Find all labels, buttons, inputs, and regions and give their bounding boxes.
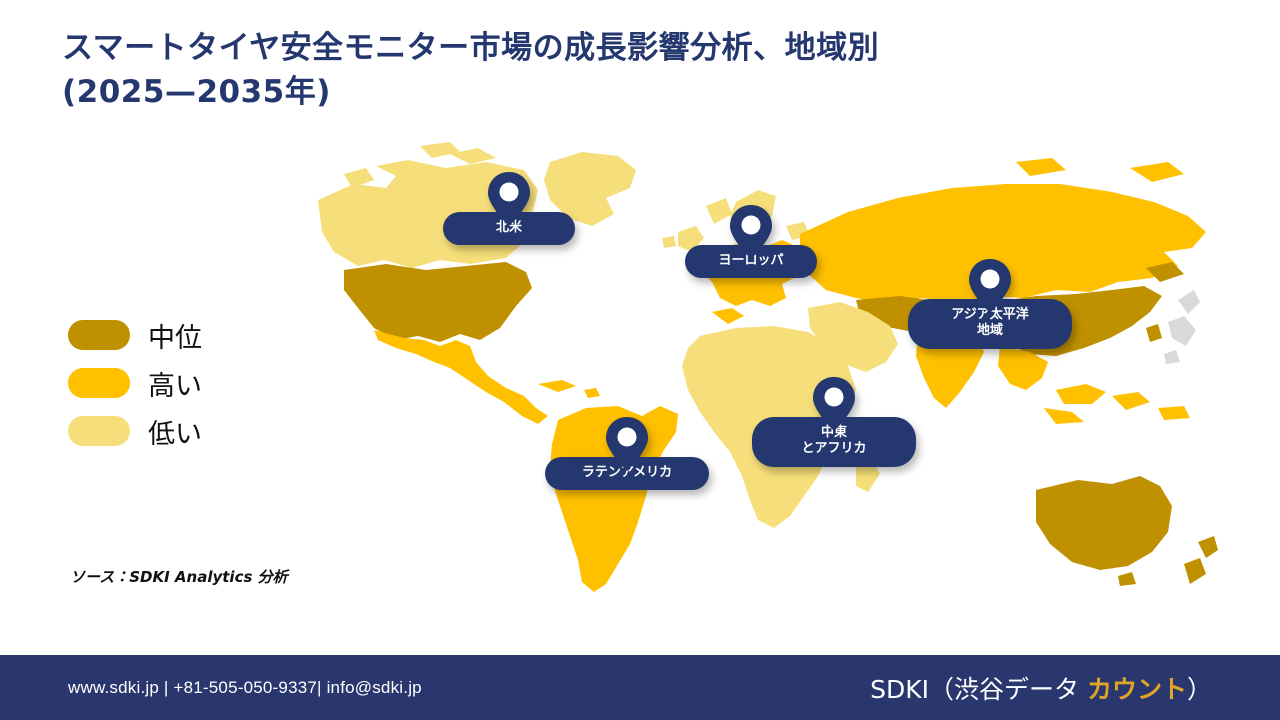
location-pin-icon — [812, 375, 856, 433]
map-pin-europe[interactable]: ヨーロッパ — [685, 203, 817, 278]
legend-swatch-low — [68, 416, 130, 446]
footer-brand-accent: カウント — [1087, 670, 1187, 706]
map-pin-middle-east-africa[interactable]: 中東 とアフリカ — [752, 375, 916, 467]
location-pin-icon — [605, 415, 649, 473]
slide-canvas: スマートタイヤ安全モニター市場の成長影響分析、地域別 (2025—2035年) … — [0, 0, 1280, 720]
location-pin-icon — [487, 170, 531, 228]
source-note: ソース：SDKI Analytics 分析 — [70, 566, 288, 587]
map-region-united-states — [344, 262, 532, 342]
page-title-line-1: スマートタイヤ安全モニター市場の成長影響分析、地域別 — [62, 26, 1182, 70]
legend-swatch-high — [68, 368, 130, 398]
page-title-line-2: (2025—2035年) — [62, 70, 1182, 114]
map-region-new-zealand — [1184, 536, 1218, 584]
map-region-korea — [1146, 324, 1162, 342]
world-map-container: 北米 ヨーロッパ アジア太平洋 地域 中東 とアフリカ — [300, 140, 1240, 640]
legend-item-medium: 中位 — [68, 312, 318, 358]
footer-brand-suffix: ） — [1187, 670, 1212, 706]
map-pin-asia-pacific[interactable]: アジア太平洋 地域 — [908, 257, 1072, 349]
map-region-japan — [1164, 290, 1200, 364]
footer-bar: www.sdki.jp | +81-505-050-9337| info@sdk… — [0, 655, 1280, 720]
map-region-southeast-asia — [998, 346, 1190, 424]
location-pin-icon — [729, 203, 773, 261]
footer-contact-info[interactable]: www.sdki.jp | +81-505-050-9337| info@sdk… — [68, 678, 422, 698]
footer-brand: SDKI（渋谷データ カウント） — [870, 670, 1212, 706]
page-title: スマートタイヤ安全モニター市場の成長影響分析、地域別 (2025—2035年) — [62, 26, 1182, 114]
legend-label-high: 高い — [148, 364, 202, 403]
map-region-caribbean — [538, 380, 600, 398]
map-region-mexico-central-america — [374, 330, 548, 424]
legend-label-medium: 中位 — [148, 316, 202, 355]
legend-item-high: 高い — [68, 360, 318, 406]
map-pin-north-america[interactable]: 北米 — [443, 170, 575, 245]
legend-label-low: 低い — [148, 412, 202, 451]
map-pin-latin-america[interactable]: ラテンアメリカ — [545, 415, 709, 490]
legend: 中位 高い 低い — [68, 312, 318, 456]
footer-brand-prefix: SDKI（渋谷データ — [870, 670, 1087, 706]
legend-swatch-medium — [68, 320, 130, 350]
legend-item-low: 低い — [68, 408, 318, 454]
map-region-australia — [1036, 476, 1172, 586]
location-pin-icon — [968, 257, 1012, 315]
